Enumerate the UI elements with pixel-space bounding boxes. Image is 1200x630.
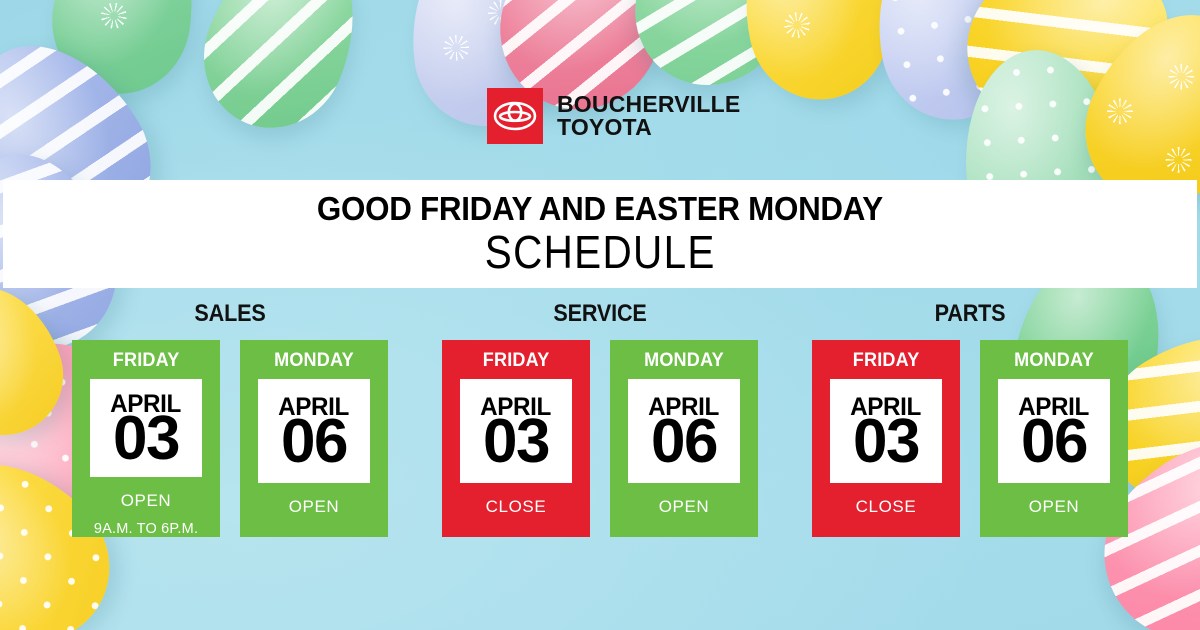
schedule-card[interactable]: MONDAYAPRIL06OPEN <box>610 340 758 537</box>
card-month: APRIL <box>111 392 182 416</box>
decorative-egg-green-striped <box>182 0 383 149</box>
card-day-number: 06 <box>651 417 717 468</box>
department-sales: SALESFRIDAYAPRIL03OPEN9A.M. TO 6P.M.MOND… <box>72 300 388 537</box>
card-day-number: 03 <box>483 417 549 468</box>
toyota-emblem-icon <box>487 88 543 144</box>
schedule-card[interactable]: MONDAYAPRIL06OPEN <box>980 340 1128 537</box>
card-month: APRIL <box>851 395 922 419</box>
schedule-card[interactable]: MONDAYAPRIL06OPEN <box>240 340 388 537</box>
card-month: APRIL <box>1019 395 1090 419</box>
card-weekday: FRIDAY <box>113 350 180 372</box>
schedule-card-row: FRIDAYAPRIL03OPEN9A.M. TO 6P.M.MONDAYAPR… <box>72 340 388 537</box>
card-status-badge: CLOSE <box>856 497 917 517</box>
card-status-badge: OPEN <box>121 491 172 511</box>
department-title: SERVICE <box>458 300 742 328</box>
schedule-card-row: FRIDAYAPRIL03CLOSEMONDAYAPRIL06OPEN <box>442 340 758 537</box>
card-weekday: MONDAY <box>274 350 354 372</box>
department-parts: PARTSFRIDAYAPRIL03CLOSEMONDAYAPRIL06OPEN <box>812 300 1128 537</box>
card-weekday: FRIDAY <box>853 350 920 372</box>
card-day-number: 06 <box>281 417 347 468</box>
card-status-badge: CLOSE <box>486 497 547 517</box>
card-month: APRIL <box>481 395 552 419</box>
dealership-name: BOUCHERVILLE TOYOTA <box>557 93 740 140</box>
card-opening-hours: 9A.M. TO 6P.M. <box>94 521 198 537</box>
card-day-number: 03 <box>853 417 919 468</box>
card-weekday: FRIDAY <box>483 350 550 372</box>
department-title: PARTS <box>828 300 1112 328</box>
department-schedule-list: SALESFRIDAYAPRIL03OPEN9A.M. TO 6P.M.MOND… <box>0 300 1200 560</box>
card-date-box: APRIL03 <box>90 379 202 477</box>
card-date-box: APRIL06 <box>258 379 370 483</box>
brand-line-2: TOYOTA <box>557 116 740 139</box>
card-day-number: 06 <box>1021 417 1087 468</box>
brand-line-1: BOUCHERVILLE <box>557 93 740 116</box>
card-status-badge: OPEN <box>289 497 340 517</box>
dealership-logo[interactable]: BOUCHERVILLE TOYOTA <box>487 88 740 144</box>
card-status-badge: OPEN <box>659 497 710 517</box>
schedule-card-row: FRIDAYAPRIL03CLOSEMONDAYAPRIL06OPEN <box>812 340 1128 537</box>
card-weekday: MONDAY <box>1014 350 1094 372</box>
department-title: SALES <box>88 300 372 328</box>
card-day-number: 03 <box>113 414 179 465</box>
schedule-card[interactable]: FRIDAYAPRIL03CLOSE <box>442 340 590 537</box>
card-date-box: APRIL06 <box>998 379 1110 483</box>
card-month: APRIL <box>279 395 350 419</box>
page-title: GOOD FRIDAY AND EASTER MONDAY <box>317 190 883 228</box>
schedule-card[interactable]: FRIDAYAPRIL03CLOSE <box>812 340 960 537</box>
card-weekday: MONDAY <box>644 350 724 372</box>
department-service: SERVICEFRIDAYAPRIL03CLOSEMONDAYAPRIL06OP… <box>442 300 758 537</box>
schedule-card[interactable]: FRIDAYAPRIL03OPEN9A.M. TO 6P.M. <box>72 340 220 537</box>
card-status-badge: OPEN <box>1029 497 1080 517</box>
card-month: APRIL <box>649 395 720 419</box>
card-date-box: APRIL03 <box>830 379 942 483</box>
page-subtitle: SCHEDULE <box>484 225 715 279</box>
card-date-box: APRIL03 <box>460 379 572 483</box>
card-date-box: APRIL06 <box>628 379 740 483</box>
title-banner: GOOD FRIDAY AND EASTER MONDAY SCHEDULE <box>3 180 1197 288</box>
